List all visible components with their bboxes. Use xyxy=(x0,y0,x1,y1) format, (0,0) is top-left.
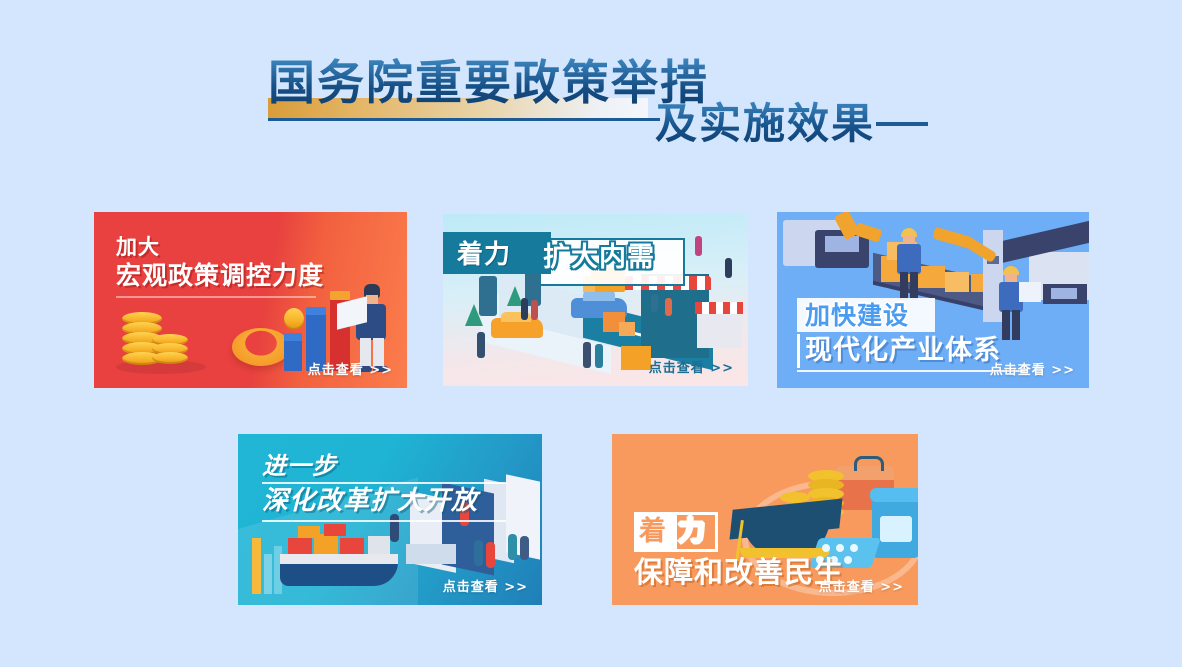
indicator-bar-gold xyxy=(252,538,261,594)
ship-deck xyxy=(280,554,398,564)
office-desk xyxy=(406,544,456,564)
card2-cta-link[interactable]: 点击查看 >> xyxy=(649,357,734,376)
card5-cta-link[interactable]: 点击查看 >> xyxy=(819,576,904,595)
card4-cta-link[interactable]: 点击查看 >> xyxy=(443,576,528,595)
card5-heading-line1-part1: 着 xyxy=(639,517,667,547)
ship-bridge xyxy=(368,536,390,554)
page-title-line2: 及实施效果 xyxy=(655,100,875,148)
machine-screen xyxy=(825,236,859,252)
shipping-container xyxy=(340,538,364,554)
card1-heading-rule xyxy=(116,296,316,298)
chart-bar-2-top xyxy=(306,307,326,315)
chart-bar-3-top xyxy=(330,291,350,300)
policy-card-livelihood[interactable]: 着 力 保障和改善民生 点击查看 >> xyxy=(612,434,918,605)
card5-heading-line1-part2: 力 xyxy=(678,517,706,547)
person-figure xyxy=(695,236,702,256)
gold-ring-icon xyxy=(232,328,290,366)
briefcase-handle xyxy=(854,456,884,471)
cargo-box xyxy=(917,266,945,288)
card4-heading-line2: 深化改革扩大开放 xyxy=(262,486,478,516)
person-figure xyxy=(651,294,658,312)
card3-cta-link[interactable]: 点击查看 >> xyxy=(990,359,1075,378)
title-underline xyxy=(268,118,660,121)
person-figure xyxy=(521,298,528,320)
medicine-bottle-label xyxy=(880,516,912,542)
person-figure xyxy=(531,300,538,320)
card1-cta-link[interactable]: 点击查看 >> xyxy=(308,359,393,378)
parcel-box xyxy=(619,322,635,336)
policy-card-modern-industry[interactable]: 加快建设 现代化产业体系 点击查看 >> xyxy=(777,212,1089,388)
person-figure xyxy=(477,332,485,358)
pill xyxy=(822,544,830,552)
policy-card-expand-demand[interactable]: 着力 扩大内需 点击查看 >> xyxy=(443,214,748,386)
card2-heading-line1: 着力 xyxy=(457,240,511,270)
chart-bar-1-top xyxy=(284,333,302,341)
policy-card-macro-regulation[interactable]: 加大 宏观政策调控力度 点击查看 >> xyxy=(94,212,407,388)
card5-heading-line2: 保障和改善民生 xyxy=(634,556,844,589)
page-title-line1: 国务院重要政策举措 xyxy=(268,58,709,110)
pill xyxy=(850,544,858,552)
card1-heading-line2: 宏观政策调控力度 xyxy=(116,261,324,291)
card3-heading-left-bar xyxy=(797,334,800,368)
cargo-box xyxy=(945,272,969,292)
card3-heading-line1: 加快建设 xyxy=(805,302,909,330)
page-header: 国务院重要政策举措 及实施效果 xyxy=(0,0,1182,175)
pill xyxy=(844,556,852,564)
person-figure xyxy=(595,344,603,368)
shipping-container xyxy=(288,538,312,554)
policy-overview-page: 国务院重要政策举措 及实施效果 xyxy=(0,0,1182,667)
stall-awning xyxy=(695,302,743,314)
card1-heading-line1: 加大 xyxy=(116,234,160,261)
person-figure xyxy=(725,258,732,278)
pill xyxy=(836,544,844,552)
person-figure xyxy=(508,534,517,560)
stall-body xyxy=(697,314,741,348)
person-figure xyxy=(665,298,672,316)
chart-bar-1 xyxy=(284,339,302,371)
shipping-container xyxy=(298,526,320,538)
shipping-container xyxy=(324,524,346,536)
person-figure xyxy=(474,540,483,566)
person-figure xyxy=(390,514,399,542)
person-figure xyxy=(520,536,529,560)
policy-card-reform-opening[interactable]: 进一步 深化改革扩大开放 点击查看 >> xyxy=(238,434,542,605)
tree-icon xyxy=(465,304,483,326)
card3-heading-line2: 现代化产业体系 xyxy=(805,336,1001,366)
ship-hull xyxy=(280,562,398,586)
parcel-box-large xyxy=(621,346,651,370)
card4-heading-line1: 进一步 xyxy=(262,452,337,480)
person-figure xyxy=(486,542,495,568)
floating-coin-icon xyxy=(284,308,304,330)
person-figure xyxy=(583,342,591,368)
page-title-line1-wrap: 国务院重要政策举措 xyxy=(268,58,709,110)
card4-heading-rule-top xyxy=(262,482,506,484)
indicator-bar xyxy=(264,554,272,594)
card2-heading-line2: 扩大内需 xyxy=(543,242,655,274)
control-screen xyxy=(1051,288,1077,299)
title-dash-icon xyxy=(876,122,928,126)
medicine-bottle-cap xyxy=(870,488,918,502)
card4-heading-rule-bottom xyxy=(262,520,506,522)
